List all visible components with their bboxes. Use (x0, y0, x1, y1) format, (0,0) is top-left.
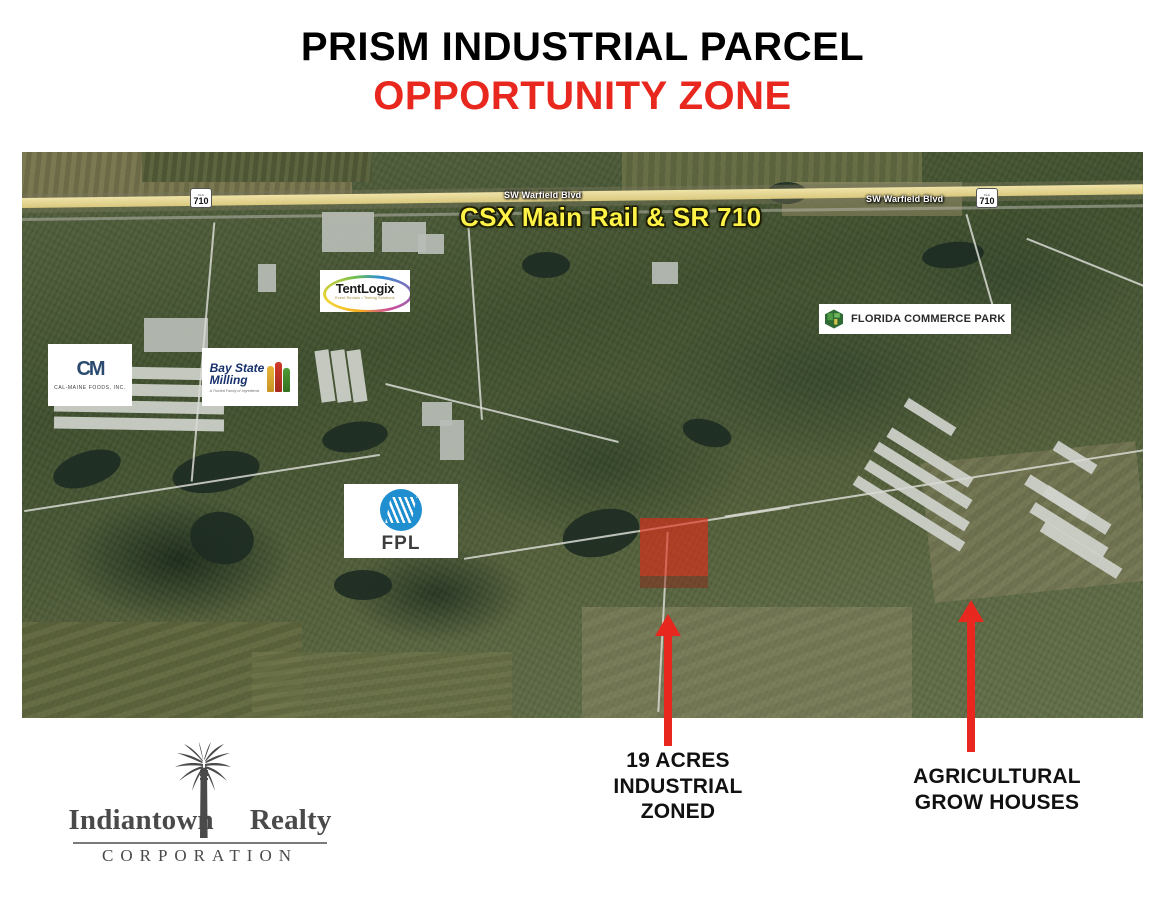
tentlogix-tagline: Event Rentals • Tenting Solutions (335, 296, 395, 301)
page-subtitle: OPPORTUNITY ZONE (373, 74, 791, 119)
florida-commerce-park-hexagon-icon (824, 309, 844, 329)
florida-commerce-park-name: FLORIDA COMMERCE PARK (851, 313, 1006, 325)
logo-word-corporation: CORPORATION (66, 846, 334, 866)
csx-rail-caption: CSX Main Rail & SR 710 (460, 202, 761, 233)
logo-card-tentlogix[interactable]: TentLogix Event Rentals • Tenting Soluti… (320, 270, 410, 312)
corn-stalk-icon (283, 368, 290, 392)
tentlogix-name: TentLogix (336, 282, 394, 295)
annotation-grow-houses: AGRICULTURAL GROW HOUSES (866, 764, 1128, 815)
highway-shield-icon: FLA 710 (190, 188, 212, 208)
bay-state-name-line1: Bay State (210, 362, 265, 374)
bay-state-tagline: A Trusted Family of Ingredients (210, 389, 260, 393)
tentlogix-logo: TentLogix Event Rentals • Tenting Soluti… (321, 271, 409, 311)
cal-maine-name: CAL-MAINE FOODS, INC. (54, 385, 126, 391)
arrow-head-icon (655, 614, 681, 636)
logo-card-cal-maine-foods[interactable]: CM CAL-MAINE FOODS, INC. (48, 344, 132, 406)
indiantown-realty-logo[interactable]: Indiantown Realty CORPORATION (66, 742, 334, 864)
wheat-stalk-icon (267, 366, 274, 392)
farm-field-south-mid (252, 652, 512, 718)
building-roof (418, 234, 444, 254)
logo-card-florida-commerce-park[interactable]: FLORIDA COMMERCE PARK (819, 304, 1011, 334)
parcel-highlight-extension (640, 576, 708, 588)
logo-card-bay-state-milling[interactable]: Bay State Milling A Trusted Family of In… (202, 348, 298, 406)
logo-word-realty: Realty (250, 804, 332, 837)
highway-shield-icon: FLA 710 (976, 188, 998, 208)
fpl-lightning-icon (385, 497, 417, 523)
arrow-shaft (967, 620, 975, 752)
indiantown-realty-wordmark: Indiantown Realty (66, 804, 334, 837)
annotation-parcel: 19 ACRES INDUSTRIAL ZONED (568, 748, 788, 825)
fpl-name: FPL (382, 534, 421, 553)
grain-stalk-icon (275, 362, 282, 392)
building-roof (258, 264, 276, 292)
building-roof (440, 420, 464, 460)
arrow-to-parcel (655, 614, 681, 746)
bay-state-name-line2: Milling (210, 374, 248, 387)
logo-word-indiantown: Indiantown (68, 804, 213, 837)
building-roof (144, 318, 208, 352)
shield-number: 710 (193, 197, 208, 206)
farm-field-southeast (582, 607, 912, 718)
bay-state-grain-icon (267, 362, 290, 392)
shield-number: 710 (979, 197, 994, 206)
farm-field-northwest-2 (142, 152, 372, 182)
arrow-head-icon (958, 600, 984, 622)
fpl-circle-icon (380, 489, 422, 531)
cal-maine-monogram-icon: CM (76, 359, 103, 379)
pond (522, 252, 570, 278)
bay-state-text: Bay State Milling A Trusted Family of In… (210, 362, 265, 393)
arrow-to-grow-houses (958, 600, 984, 752)
pond (334, 570, 392, 600)
building-roof (652, 262, 678, 284)
road-name-label: SW Warfield Blvd (504, 190, 581, 200)
parcel-highlight[interactable] (640, 518, 708, 576)
road-name-label: SW Warfield Blvd (866, 194, 943, 204)
page-title: PRISM INDUSTRIAL PARCEL (301, 26, 864, 68)
logo-card-fpl[interactable]: FPL (344, 484, 458, 558)
title-block: PRISM INDUSTRIAL PARCEL OPPORTUNITY ZONE (0, 0, 1165, 140)
bay-state-logo: Bay State Milling A Trusted Family of In… (210, 362, 291, 393)
arrow-shaft (664, 634, 672, 746)
building-roof (322, 212, 374, 252)
logo-divider (73, 842, 327, 844)
